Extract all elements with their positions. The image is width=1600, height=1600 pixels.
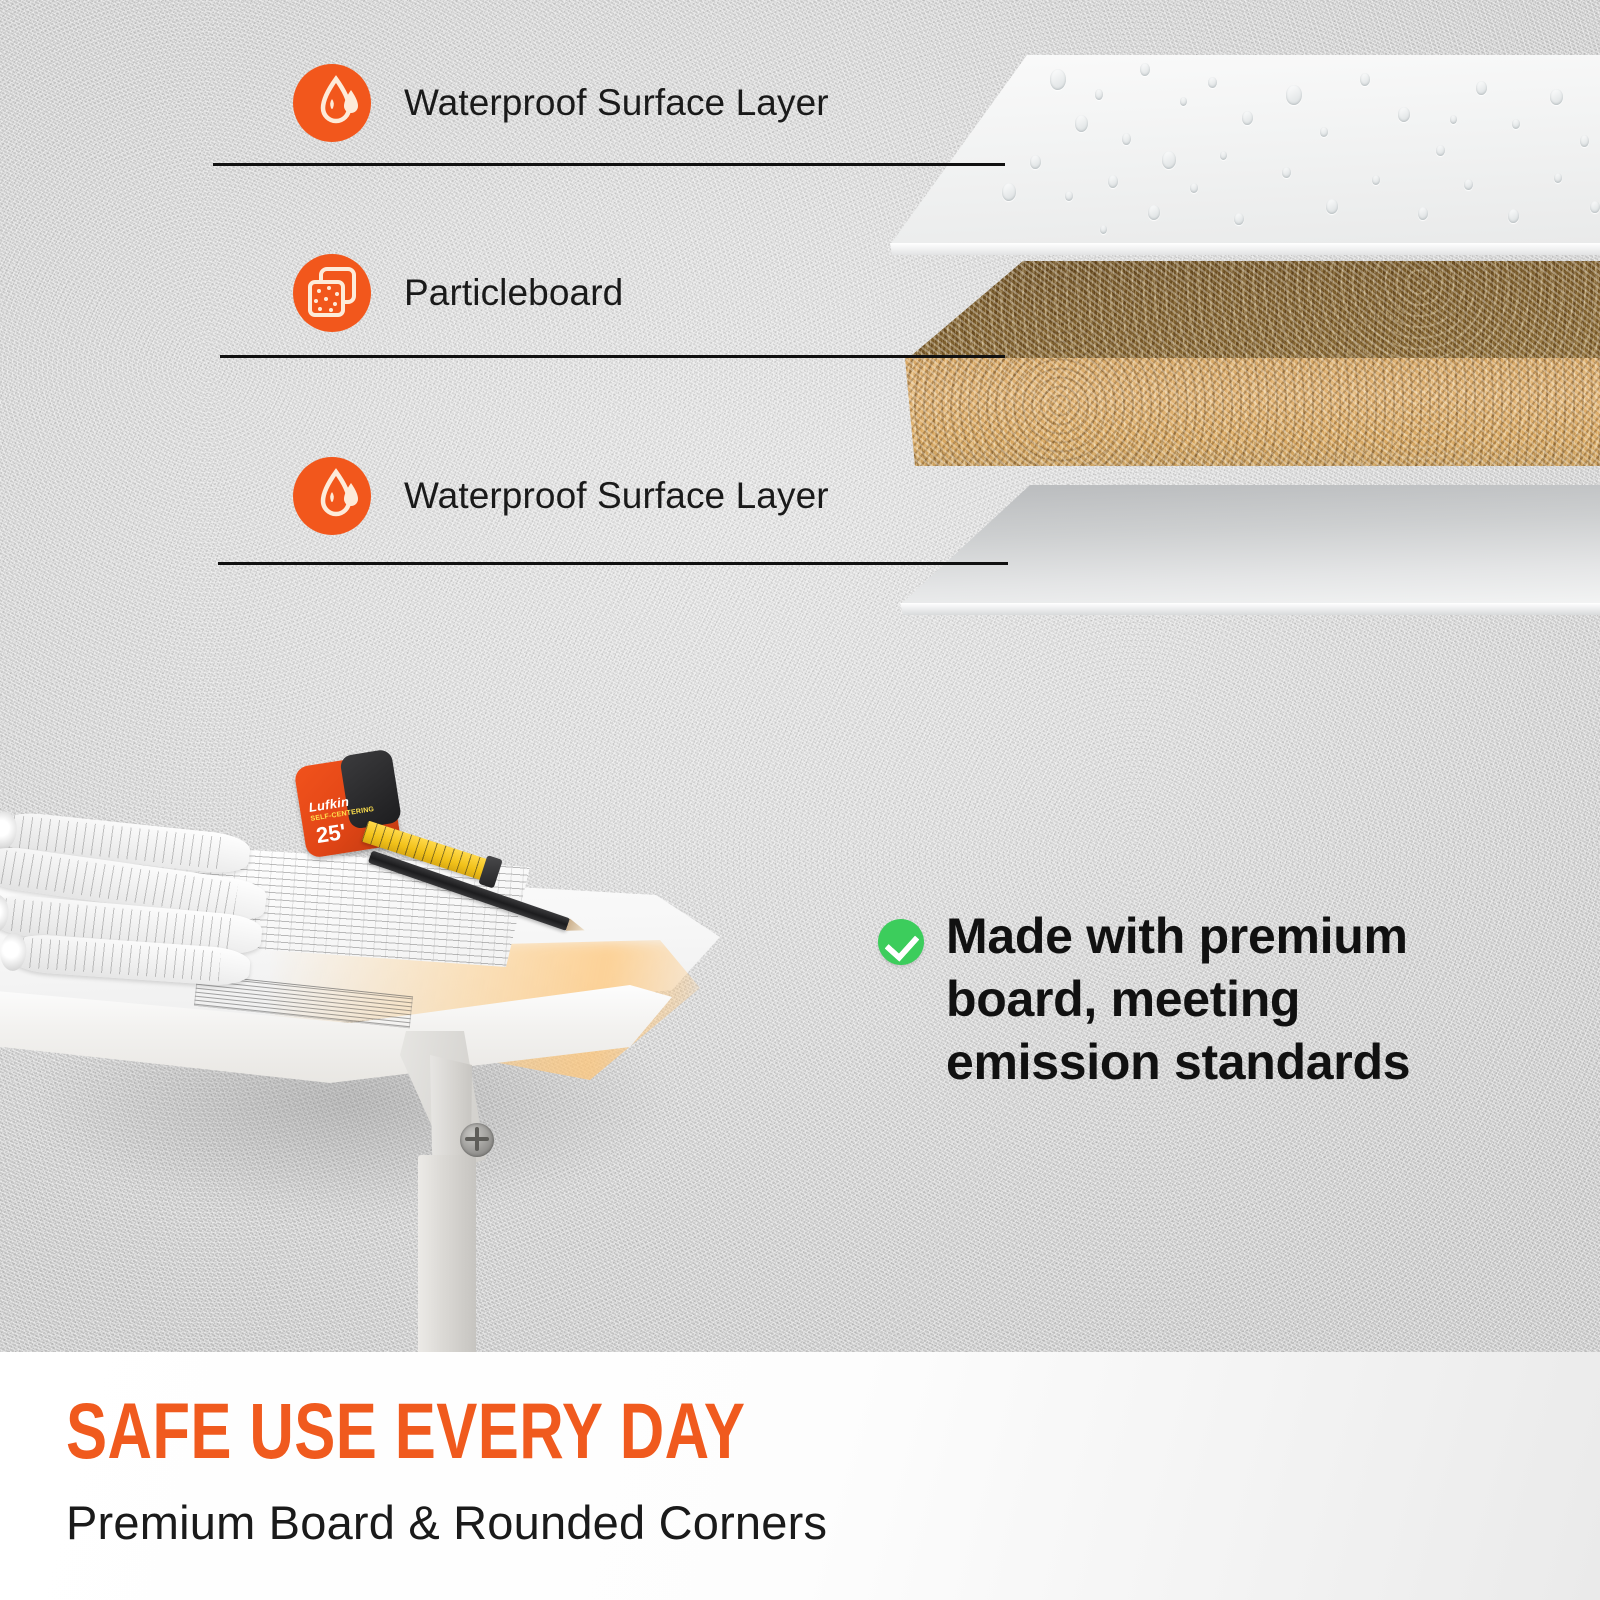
callout-particleboard: Particleboard <box>293 254 623 332</box>
particleboard-front-edge <box>905 358 1600 466</box>
particleboard-top-face <box>905 261 1600 361</box>
water-drop-icon <box>293 64 371 142</box>
callout-line-3 <box>218 562 1008 565</box>
water-drop-icon <box>293 457 371 535</box>
particleboard-chip-texture-top <box>905 261 1600 361</box>
feature-bullet: Made with premium board, meeting emissio… <box>878 905 1498 1094</box>
tape-measure-length: 25' <box>314 819 347 849</box>
feature-bullet-text: Made with premium board, meeting emissio… <box>946 905 1498 1094</box>
callout-line-2 <box>220 355 1005 358</box>
green-check-icon <box>878 919 924 965</box>
callout-waterproof-bottom: Waterproof Surface Layer <box>293 457 829 535</box>
product-photo-folding-desk: Lufkin SELF-CENTERING 25' <box>0 735 790 1305</box>
desk-bracket-post <box>418 1155 476 1385</box>
banner-subtitle: Premium Board & Rounded Corners <box>66 1495 827 1550</box>
callout-label: Waterproof Surface Layer <box>404 82 829 124</box>
tape-measure-housing <box>339 749 402 830</box>
callout-label: Waterproof Surface Layer <box>404 475 829 517</box>
banner-title: SAFE USE EVERY DAY <box>66 1385 745 1477</box>
waterproof-top-face <box>890 55 1600 245</box>
waterproof-bottom-face <box>900 485 1600 605</box>
water-drop-glyph <box>293 64 371 142</box>
waterproof-top-edge <box>890 243 1600 255</box>
callout-line-1 <box>213 163 1005 166</box>
bracket-screw <box>460 1123 494 1157</box>
callout-waterproof-top: Waterproof Surface Layer <box>293 64 829 142</box>
waterproof-bottom-edge <box>900 603 1600 615</box>
particleboard-glyph <box>293 254 371 332</box>
water-drop-glyph <box>293 457 371 535</box>
callout-label: Particleboard <box>404 272 623 314</box>
particleboard-chip-texture-edge <box>905 358 1600 466</box>
particleboard-icon <box>293 254 371 332</box>
product-feature-image: Waterproof Surface Layer Particleboard <box>0 0 1600 1600</box>
